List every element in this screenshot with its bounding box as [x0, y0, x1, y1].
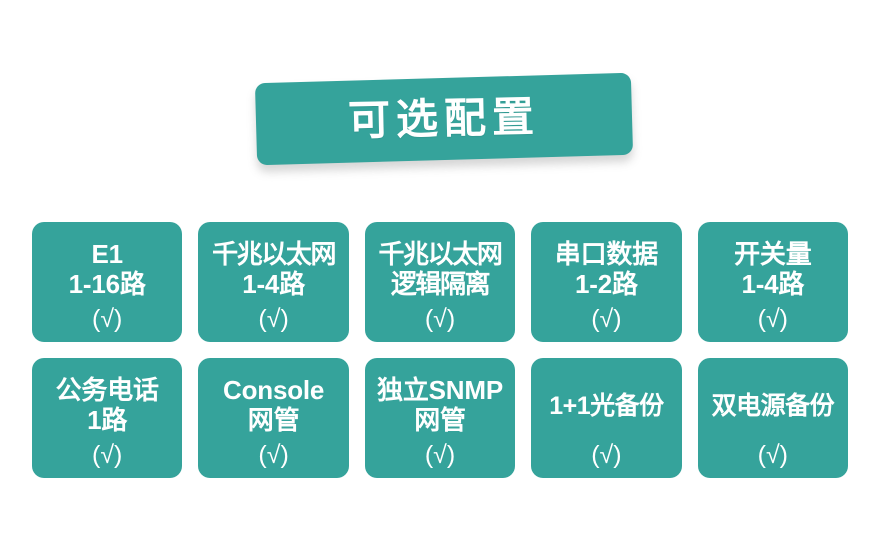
feature-card-line-1: 公务电话 — [56, 376, 159, 405]
feature-card-line-2: 1-2路 — [575, 270, 638, 299]
feature-card-text: 千兆以太网 1-4路 — [198, 232, 348, 307]
feature-card-service-phone[interactable]: 公务电话 1路 (√) — [32, 358, 182, 478]
feature-card-line-2: 逻辑隔离 — [391, 270, 489, 299]
optional-configuration-page: 可选配置 E1 1-16路 (√) 千兆以太网 1-4路 (√) — [0, 0, 880, 560]
feature-card-independent-snmp-management[interactable]: 独立SNMP 网管 (√) — [365, 358, 515, 478]
feature-card-e1[interactable]: E1 1-16路 (√) — [32, 222, 182, 342]
feature-card-line-2: 1-4路 — [741, 270, 804, 299]
feature-card-line-1: 1+1光备份 — [549, 392, 663, 420]
check-mark-icon: (√) — [258, 443, 288, 478]
feature-card-text: 独立SNMP 网管 — [365, 368, 515, 443]
check-mark-icon: (√) — [591, 307, 621, 342]
feature-card-text: 开关量 1-4路 — [698, 232, 848, 307]
feature-card-line-2: 1路 — [87, 406, 127, 435]
feature-card-row-2: 公务电话 1路 (√) Console 网管 (√) 独立SNMP 网管 (√) — [32, 358, 848, 478]
feature-card-grid: E1 1-16路 (√) 千兆以太网 1-4路 (√) 千兆以太网 逻辑隔离 (… — [32, 222, 848, 478]
check-mark-icon: (√) — [591, 443, 621, 478]
feature-card-line-1: 双电源备份 — [712, 392, 835, 420]
feature-card-line-1: 开关量 — [734, 240, 811, 269]
page-title: 可选配置 — [348, 96, 541, 142]
feature-card-text: E1 1-16路 — [32, 232, 182, 307]
check-mark-icon: (√) — [258, 307, 288, 342]
feature-card-gigabit-ethernet[interactable]: 千兆以太网 1-4路 (√) — [198, 222, 348, 342]
check-mark-icon: (√) — [92, 443, 122, 478]
feature-card-row-1: E1 1-16路 (√) 千兆以太网 1-4路 (√) 千兆以太网 逻辑隔离 (… — [32, 222, 848, 342]
feature-card-line-2: 网管 — [414, 406, 466, 435]
feature-card-line-2: 网管 — [248, 406, 300, 435]
feature-card-serial-data[interactable]: 串口数据 1-2路 (√) — [531, 222, 681, 342]
feature-card-line-2: 1-4路 — [242, 270, 305, 299]
check-mark-icon: (√) — [425, 443, 455, 478]
check-mark-icon: (√) — [758, 443, 788, 478]
header-banner-plate: 可选配置 — [255, 73, 633, 165]
feature-card-text: 1+1光备份 — [531, 368, 681, 443]
feature-card-1plus1-optical-backup[interactable]: 1+1光备份 (√) — [531, 358, 681, 478]
feature-card-console-management[interactable]: Console 网管 (√) — [198, 358, 348, 478]
feature-card-text: 公务电话 1路 — [32, 368, 182, 443]
feature-card-text: 千兆以太网 逻辑隔离 — [365, 232, 515, 307]
feature-card-text: 双电源备份 — [698, 368, 848, 443]
feature-card-line-1: 千兆以太网 — [379, 240, 502, 269]
check-mark-icon: (√) — [758, 307, 788, 342]
feature-card-text: Console 网管 — [198, 368, 348, 443]
check-mark-icon: (√) — [92, 307, 122, 342]
feature-card-text: 串口数据 1-2路 — [531, 232, 681, 307]
feature-card-line-2: 1-16路 — [69, 270, 146, 299]
check-mark-icon: (√) — [425, 307, 455, 342]
feature-card-gigabit-ethernet-logical-isolation[interactable]: 千兆以太网 逻辑隔离 (√) — [365, 222, 515, 342]
feature-card-line-1: E1 — [92, 240, 123, 269]
feature-card-dual-power-backup[interactable]: 双电源备份 (√) — [698, 358, 848, 478]
feature-card-line-1: 串口数据 — [555, 240, 658, 269]
feature-card-switch-quantity[interactable]: 开关量 1-4路 (√) — [698, 222, 848, 342]
feature-card-line-1: Console — [223, 376, 324, 405]
feature-card-line-1: 千兆以太网 — [212, 240, 335, 269]
feature-card-line-1: 独立SNMP — [377, 376, 503, 405]
header-banner: 可选配置 — [256, 78, 632, 170]
